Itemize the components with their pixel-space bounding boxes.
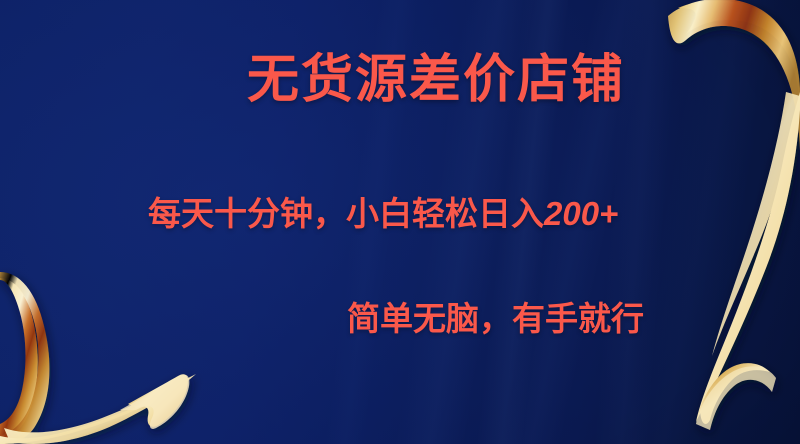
subheading-line-1-text: 每天十分钟，小白轻松日入 (148, 195, 544, 232)
subheading-line-1: 每天十分钟，小白轻松日入200+ (148, 194, 618, 234)
subheading-line-1-number: 200+ (544, 195, 618, 232)
poster-text-block: 无货源差价店铺 每天十分钟，小白轻松日入200+ 简单无脑，有手就行 (0, 0, 800, 444)
promo-poster: 无货源差价店铺 每天十分钟，小白轻松日入200+ 简单无脑，有手就行 (0, 0, 800, 444)
subheading-line-2: 简单无脑，有手就行 (347, 299, 644, 339)
subheading-line-2-text: 简单无脑，有手就行 (347, 300, 644, 337)
page-title: 无货源差价店铺 (247, 50, 625, 110)
